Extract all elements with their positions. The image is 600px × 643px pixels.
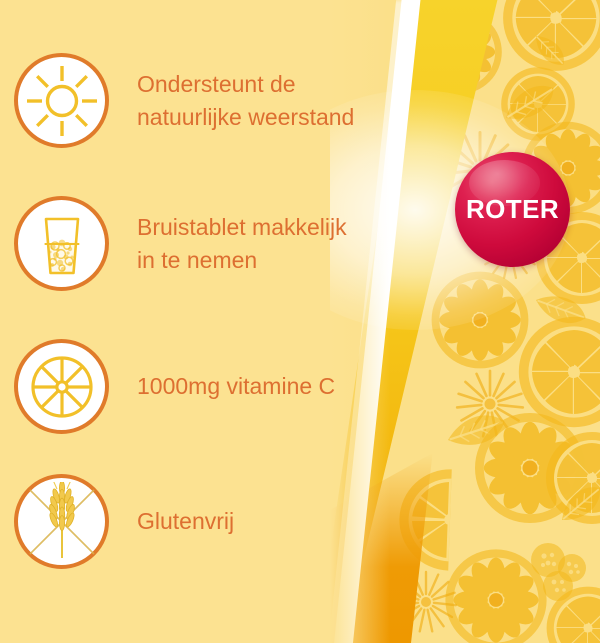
feature-list: Ondersteunt de natuurlijke weerstand xyxy=(0,0,430,643)
feature-icon-circle xyxy=(14,196,109,291)
feature-icon-circle xyxy=(14,339,109,434)
product-infographic: ROTER xyxy=(0,0,600,643)
feature-label: Ondersteunt de natuurlijke weerstand xyxy=(137,68,354,133)
feature-item-vitamin-c: 1000mg vitamine C xyxy=(14,339,414,434)
feature-label: Glutenvrij xyxy=(137,505,234,538)
feature-icon-circle xyxy=(14,53,109,148)
roter-logo-badge: ROTER xyxy=(455,152,570,267)
feature-icon-circle xyxy=(14,474,109,569)
orange-slice-icon xyxy=(26,351,98,423)
feature-item-effervescent: Bruistablet makkelijk in te nemen xyxy=(14,196,414,291)
feature-item-gluten-free: Glutenvrij xyxy=(14,474,414,569)
gluten-free-wheat-icon xyxy=(22,482,102,562)
feature-label: 1000mg vitamine C xyxy=(137,370,335,403)
sun-icon xyxy=(24,63,100,139)
effervescent-glass-icon xyxy=(25,207,99,281)
roter-logo-text: ROTER xyxy=(466,194,559,225)
feature-item-immunity: Ondersteunt de natuurlijke weerstand xyxy=(14,53,414,148)
feature-label: Bruistablet makkelijk in te nemen xyxy=(137,211,347,276)
